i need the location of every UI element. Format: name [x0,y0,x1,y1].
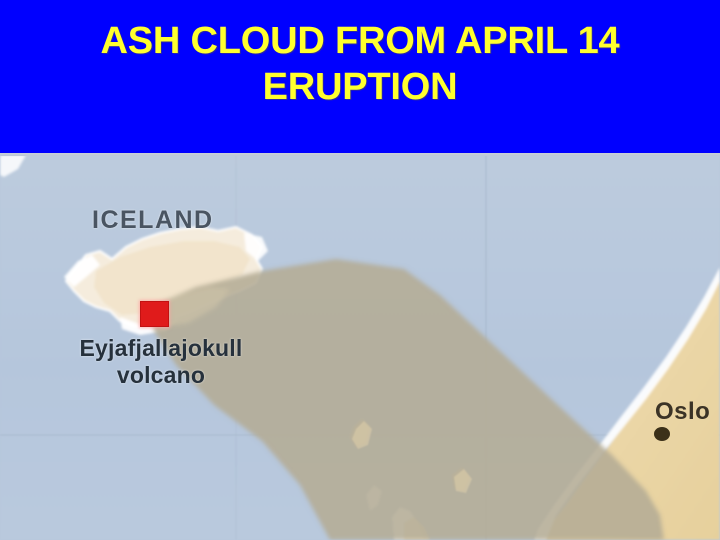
slide: ASH CLOUD FROM APRIL 14 ERUPTION [0,0,720,540]
volcano-location-marker [140,301,169,327]
banner-divider [0,153,720,156]
oslo-city-dot [654,427,670,441]
map-figure: ICELAND Eyjafjallajokullvolcano Oslo [0,155,720,540]
map-graphic [0,155,720,540]
title-banner: ASH CLOUD FROM APRIL 14 ERUPTION [0,0,720,153]
slide-title: ASH CLOUD FROM APRIL 14 ERUPTION [30,18,690,110]
